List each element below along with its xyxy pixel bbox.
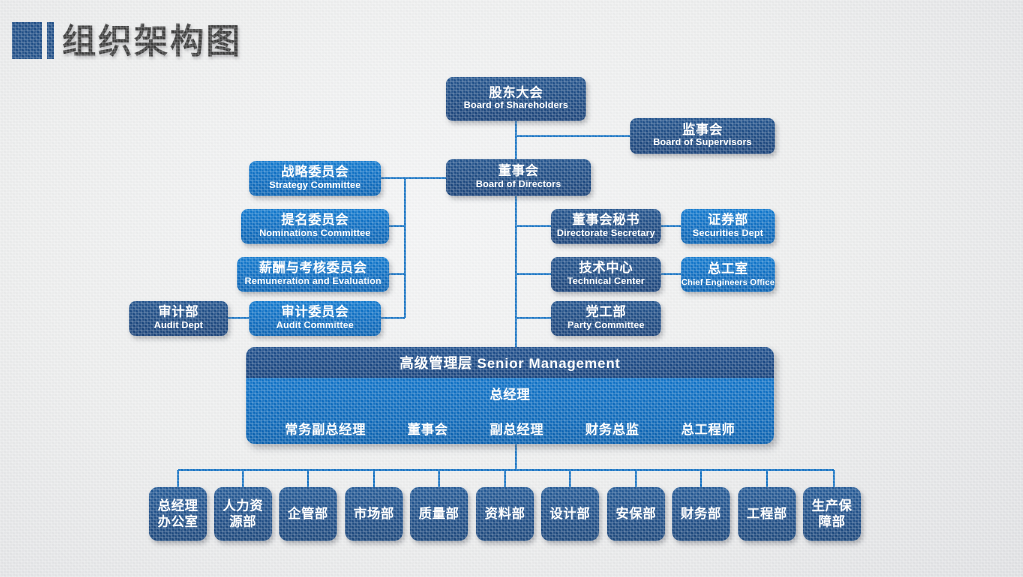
- role-item[interactable]: 副总经理: [490, 419, 544, 438]
- dept-box[interactable]: 工程部: [738, 487, 796, 541]
- general-manager-label: 总经理: [246, 384, 774, 403]
- node-label-en: Chief Engineers Office: [681, 278, 774, 288]
- node-label-cn: 审计委员会: [281, 305, 349, 320]
- node-directorate-secretary[interactable]: 董事会秘书 Directorate Secretary: [551, 209, 661, 244]
- node-label-cn: 审计部: [158, 305, 199, 320]
- node-board-of-directors[interactable]: 董事会 Board of Directors: [446, 159, 591, 196]
- senior-management-panel[interactable]: 高级管理层 Senior Management 总经理 常务副总经理 董事会 副…: [246, 347, 774, 444]
- dept-box[interactable]: 总经理办公室: [149, 487, 207, 541]
- node-label-cn: 总工室: [708, 262, 749, 277]
- node-label-cn: 证券部: [708, 213, 749, 228]
- dept-box[interactable]: 资料部: [476, 487, 534, 541]
- dept-box[interactable]: 企管部: [279, 487, 337, 541]
- node-label-en: Board of Directors: [476, 180, 561, 191]
- page-title: 组织架构图: [62, 14, 242, 63]
- node-label-cn: 提名委员会: [281, 213, 349, 228]
- node-remuneration-committee[interactable]: 薪酬与考核委员会 Remuneration and Evaluation: [237, 257, 389, 292]
- slide-header: 组织架构图: [0, 0, 1023, 70]
- role-item[interactable]: 总工程师: [681, 419, 735, 438]
- node-label-en: Audit Committee: [276, 321, 354, 332]
- node-audit-committee[interactable]: 审计委员会 Audit Committee: [249, 301, 381, 336]
- node-nominations-committee[interactable]: 提名委员会 Nominations Committee: [241, 209, 389, 244]
- role-item[interactable]: 董事会: [408, 419, 449, 438]
- dept-box[interactable]: 生产保障部: [803, 487, 861, 541]
- node-party-committee[interactable]: 党工部 Party Committee: [551, 301, 661, 336]
- node-label-en: Strategy Committee: [269, 181, 361, 192]
- node-audit-dept[interactable]: 审计部 Audit Dept: [129, 301, 228, 336]
- node-board-of-supervisors[interactable]: 监事会 Board of Supervisors: [630, 118, 775, 154]
- node-chief-engineers-office[interactable]: 总工室 Chief Engineers Office: [681, 257, 775, 292]
- node-technical-center[interactable]: 技术中心 Technical Center: [551, 257, 661, 292]
- node-label-en: Directorate Secretary: [557, 229, 655, 240]
- node-securities-dept[interactable]: 证券部 Securities Dept: [681, 209, 775, 244]
- senior-management-roles: 常务副总经理 董事会 副总经理 财务总监 总工程师: [246, 419, 774, 438]
- role-item[interactable]: 常务副总经理: [285, 419, 366, 438]
- node-label-en: Securities Dept: [693, 229, 764, 240]
- node-label-cn: 监事会: [682, 123, 723, 138]
- node-label-cn: 股东大会: [489, 86, 543, 101]
- node-label-cn: 党工部: [586, 305, 627, 320]
- node-label-en: Nominations Committee: [259, 229, 370, 240]
- senior-management-body: 总经理 常务副总经理 董事会 副总经理 财务总监 总工程师: [246, 378, 774, 444]
- title-accent-bar: [47, 22, 54, 59]
- node-label-cn: 战略委员会: [281, 165, 349, 180]
- node-label-en: Audit Dept: [154, 321, 203, 332]
- dept-box[interactable]: 质量部: [410, 487, 468, 541]
- node-label-en: Remuneration and Evaluation: [245, 277, 382, 288]
- role-item[interactable]: 财务总监: [585, 419, 639, 438]
- node-label-cn: 董事会秘书: [572, 213, 640, 228]
- node-label-en: Technical Center: [567, 277, 644, 288]
- node-label-en: Board of Supervisors: [653, 138, 752, 149]
- node-label-cn: 技术中心: [579, 261, 633, 276]
- dept-box[interactable]: 人力资源部: [214, 487, 272, 541]
- dept-box[interactable]: 安保部: [607, 487, 665, 541]
- dept-box[interactable]: 设计部: [541, 487, 599, 541]
- node-label-en: Board of Shareholders: [464, 101, 569, 112]
- node-label-cn: 董事会: [498, 164, 539, 179]
- node-label-en: Party Committee: [568, 321, 645, 332]
- dept-box[interactable]: 财务部: [672, 487, 730, 541]
- org-chart-slide: 组织架构图: [0, 0, 1023, 577]
- node-label-cn: 薪酬与考核委员会: [259, 261, 367, 276]
- node-board-of-shareholders[interactable]: 股东大会 Board of Shareholders: [446, 77, 586, 121]
- title-accent-block: [12, 22, 42, 59]
- dept-box[interactable]: 市场部: [345, 487, 403, 541]
- node-strategy-committee[interactable]: 战略委员会 Strategy Committee: [249, 161, 381, 196]
- senior-management-header: 高级管理层 Senior Management: [246, 347, 774, 378]
